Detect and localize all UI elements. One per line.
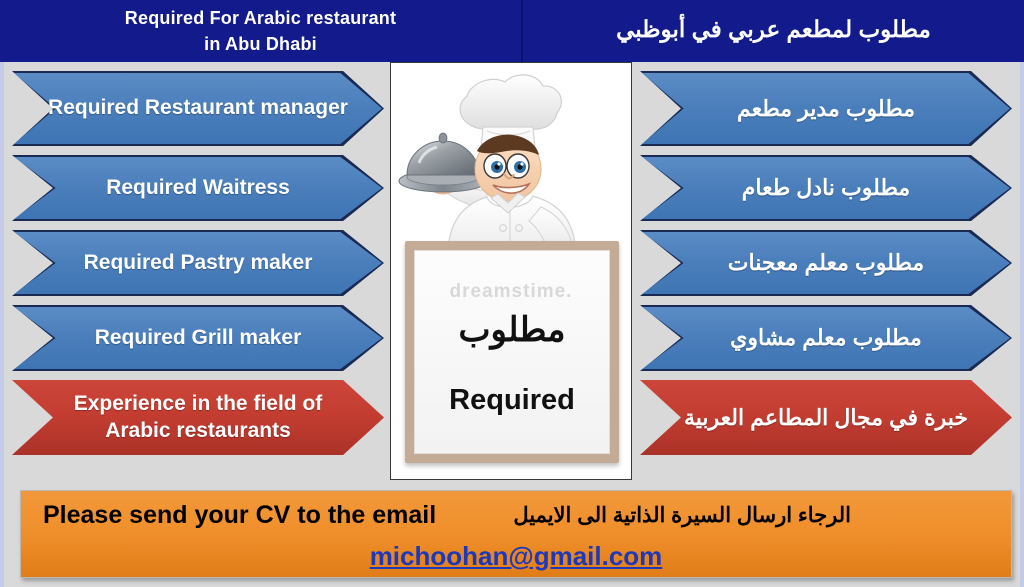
header-arabic-title: مطلوب لمطعم عربي في أبوظبي [523, 0, 1024, 62]
english-positions-column: Required Restaurant manager Required Wai… [12, 62, 384, 485]
requirement-label: Experience in the field of Arabic restau… [12, 391, 384, 443]
position-banner-waitress: Required Waitress [12, 155, 384, 221]
signboard-face: مطلوب Required [414, 250, 610, 454]
signboard-english-text: Required [449, 384, 575, 417]
contact-english-instruction: Please send your CV to the email [43, 501, 436, 530]
position-label: مطلوب معلم معجنات [694, 249, 958, 276]
contact-instruction-row: Please send your CV to the email الرجاء … [21, 491, 1011, 539]
center-illustration-panel: dreamstime. مطلوب Required [390, 62, 632, 480]
chef-head [475, 135, 541, 201]
header-english-line1: Required For Arabic restaurant [125, 5, 396, 31]
requirement-label: خبرة في مجال المطاعم العربية [650, 404, 1002, 431]
job-advertisement-poster: Required For Arabic restaurant in Abu Dh… [0, 0, 1024, 587]
header-english-line2: in Abu Dhabi [204, 31, 317, 57]
position-banner-pastry-maker: Required Pastry maker [12, 230, 384, 296]
position-label: مطلوب مدير مطعم [703, 95, 949, 122]
email-link[interactable]: michoohan@gmail.com [370, 541, 663, 571]
position-label: Required Restaurant manager [14, 95, 382, 121]
requirement-banner-experience: Experience in the field of Arabic restau… [12, 380, 384, 455]
poster-header: Required For Arabic restaurant in Abu Dh… [0, 0, 1024, 62]
requirement-banner-experience-ar: خبرة في مجال المطاعم العربية [640, 380, 1012, 455]
position-label: Required Grill maker [61, 325, 336, 351]
contact-box: Please send your CV to the email الرجاء … [20, 490, 1012, 578]
position-label: Required Pastry maker [50, 250, 347, 276]
position-banner-pastry-maker-ar: مطلوب معلم معجنات [640, 230, 1012, 296]
position-banner-restaurant-manager-ar: مطلوب مدير مطعم [640, 71, 1012, 146]
position-banner-waitress-ar: مطلوب نادل طعام [640, 155, 1012, 221]
position-label: مطلوب معلم مشاوي [696, 324, 956, 351]
header-english-title: Required For Arabic restaurant in Abu Dh… [0, 0, 521, 62]
email-row: michoohan@gmail.com [21, 539, 1011, 572]
position-banner-grill-maker: Required Grill maker [12, 305, 384, 371]
position-label: مطلوب نادل طعام [708, 174, 944, 201]
serving-platter-icon [399, 133, 487, 192]
required-signboard: مطلوب Required [405, 241, 619, 463]
position-banner-grill-maker-ar: مطلوب معلم مشاوي [640, 305, 1012, 371]
position-banner-restaurant-manager: Required Restaurant manager [12, 71, 384, 146]
position-label: Required Waitress [72, 175, 324, 201]
arabic-positions-column: مطلوب مدير مطعم مطلوب نادل طعام مطلوب مع… [640, 62, 1012, 485]
poster-footer: Please send your CV to the email الرجاء … [0, 485, 1024, 587]
contact-arabic-instruction: الرجاء ارسال السيرة الذاتية الى الايميل [513, 503, 851, 528]
signboard-arabic-text: مطلوب [459, 310, 566, 350]
